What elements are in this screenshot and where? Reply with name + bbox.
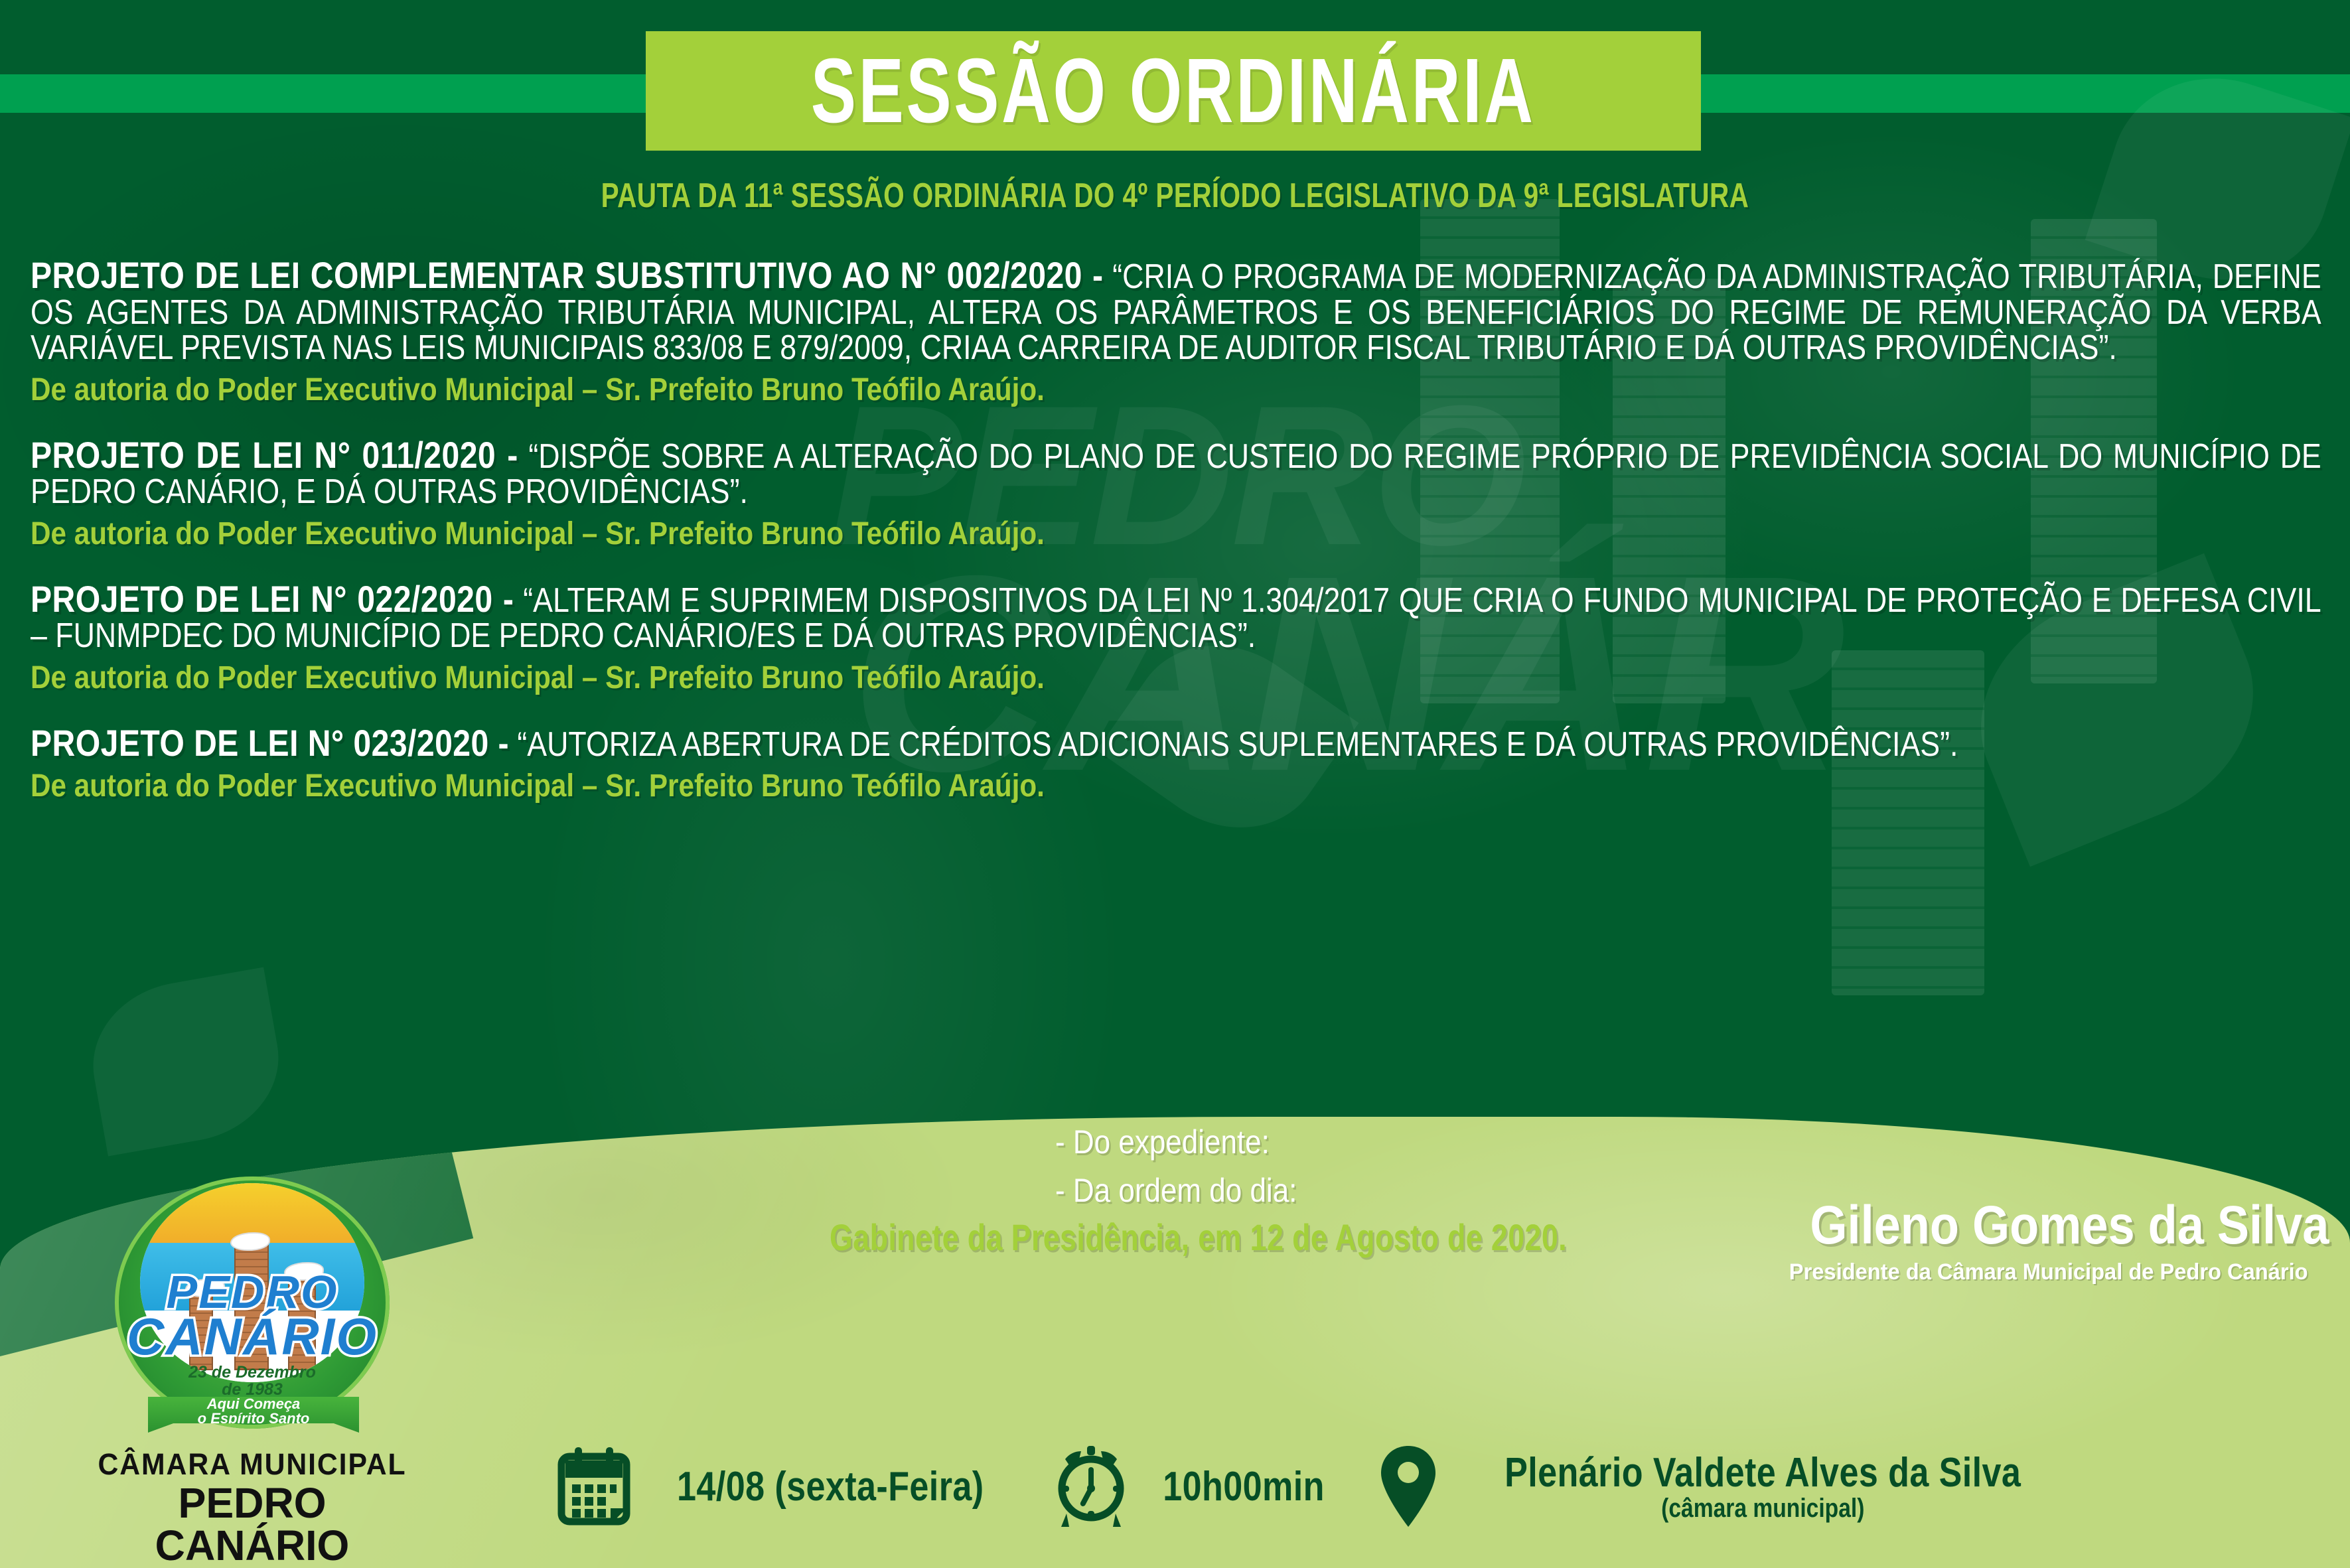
agenda-item-label: Projeto de Lei n° 023/2020 - <box>31 722 509 764</box>
logo-caption-bottom: PEDRO CANÁRIO <box>90 1482 415 1567</box>
expediente-line-1: - Do expediente: <box>1055 1118 1297 1167</box>
event-place-text: Plenário Valdete Alves da Silva <box>1505 1449 2021 1496</box>
calendar-icon <box>557 1447 630 1526</box>
agenda-item-label: Projeto de Lei n° 011/2020 - <box>31 434 518 476</box>
agenda-item-author: De autoria do Poder Executivo Municipal … <box>31 660 2334 696</box>
agenda-item: Projeto de Lei n° 022/2020 - “ALTERAM E … <box>31 580 2327 696</box>
agenda-item-text: Projeto de Lei n° 022/2020 - “ALTERAM E … <box>31 580 2321 654</box>
session-agenda-poster: PEDRO CANÁR 23 de Dezembro de 1983 SESSÃ… <box>0 0 2350 1568</box>
crest-founding-date: 23 de Dezembro de 1983 <box>110 1364 395 1399</box>
agenda-item-author: De autoria do Poder Executivo Municipal … <box>31 372 2334 408</box>
agenda-item-author: De autoria do Poder Executivo Municipal … <box>31 768 2334 804</box>
agenda-item-label: Projeto de Lei n° 022/2020 - <box>31 578 514 620</box>
gabinete-date-line: Gabinete da Presidência, em 12 de Agosto… <box>830 1216 1567 1259</box>
event-time-text: 10h00min <box>1163 1463 1325 1510</box>
crest-wordmark: PEDRO CANÁRIO <box>117 1271 387 1361</box>
agenda-item: Projeto de Lei n° 011/2020 - “DISPÕE SOB… <box>31 436 2327 552</box>
page-title: SESSÃO ORDINÁRIA <box>811 38 1536 144</box>
map-pin-icon <box>1378 1445 1438 1528</box>
event-place-stack: Plenário Valdete Alves da Silva (câmara … <box>1455 1449 2070 1524</box>
expediente-block: - Do expediente: - Da ordem do dia: <box>1055 1118 1297 1214</box>
event-date-text: 14/08 (sexta-Feira) <box>677 1463 984 1510</box>
agenda-item-text: Projeto de Lei Complementar Substitutivo… <box>31 256 2321 366</box>
municipal-crest: PEDRO CANÁRIO 23 de Dezembro de 1983 Aqu… <box>110 1171 395 1443</box>
agenda-item: Projeto de Lei Complementar Substitutivo… <box>31 256 2327 408</box>
title-plate: SESSÃO ORDINÁRIA <box>646 31 1701 151</box>
crest-motto-line1: Aqui Começa <box>198 1397 310 1411</box>
agenda-item-author: De autoria do Poder Executivo Municipal … <box>31 516 2334 552</box>
event-date-item: 14/08 (sexta-Feira) <box>557 1447 1013 1526</box>
event-info-row: 14/08 (sexta-Feira) 10h00min <box>557 1437 2323 1536</box>
event-place-subtext: (câmara municipal) <box>1661 1494 1864 1524</box>
alarm-clock-icon <box>1052 1445 1130 1528</box>
agenda-item-text: Projeto de Lei n° 011/2020 - “DISPÕE SOB… <box>31 436 2321 510</box>
crest-motto: Aqui Começa o Espírito Santo <box>198 1397 310 1427</box>
expediente-line-2: - Da ordem do dia: <box>1055 1167 1297 1215</box>
agenda-item: Projeto de Lei n° 023/2020 - “AUTORIZA A… <box>31 724 2327 805</box>
crest-date-line2: de 1983 <box>110 1381 395 1398</box>
logo-caption-top: CÂMARA MUNICIPAL <box>95 1447 410 1482</box>
municipal-logo: PEDRO CANÁRIO 23 de Dezembro de 1983 Aqu… <box>86 1171 418 1568</box>
event-time-item: 10h00min <box>1052 1445 1340 1528</box>
signature-name: Gileno Gomes da Silva <box>1810 1194 2271 1257</box>
crest-date-line1: 23 de Dezembro <box>110 1364 395 1381</box>
event-place-item: Plenário Valdete Alves da Silva (câmara … <box>1378 1445 2070 1528</box>
crest-chimney-cap <box>230 1232 270 1251</box>
signature-role: Presidente da Câmara Municipal de Pedro … <box>1789 1259 2292 1285</box>
agenda-items-list: Projeto de Lei Complementar Substitutivo… <box>31 256 2327 832</box>
agenda-item-text: Projeto de Lei n° 023/2020 - “AUTORIZA A… <box>31 724 2321 763</box>
agenda-item-quote: “AUTORIZA ABERTURA DE CRÉDITOS ADICIONAI… <box>517 725 1958 764</box>
agenda-item-label: Projeto de Lei Complementar Substitutivo… <box>31 254 1104 296</box>
page-subtitle: PAUTA DA 11ª SESSÃO ORDINÁRIA DO 4º PERÍ… <box>259 176 2092 216</box>
crest-wordmark-line2: CANÁRIO <box>117 1313 387 1361</box>
signature-block: Gileno Gomes da Silva Presidente da Câma… <box>1779 1194 2303 1285</box>
